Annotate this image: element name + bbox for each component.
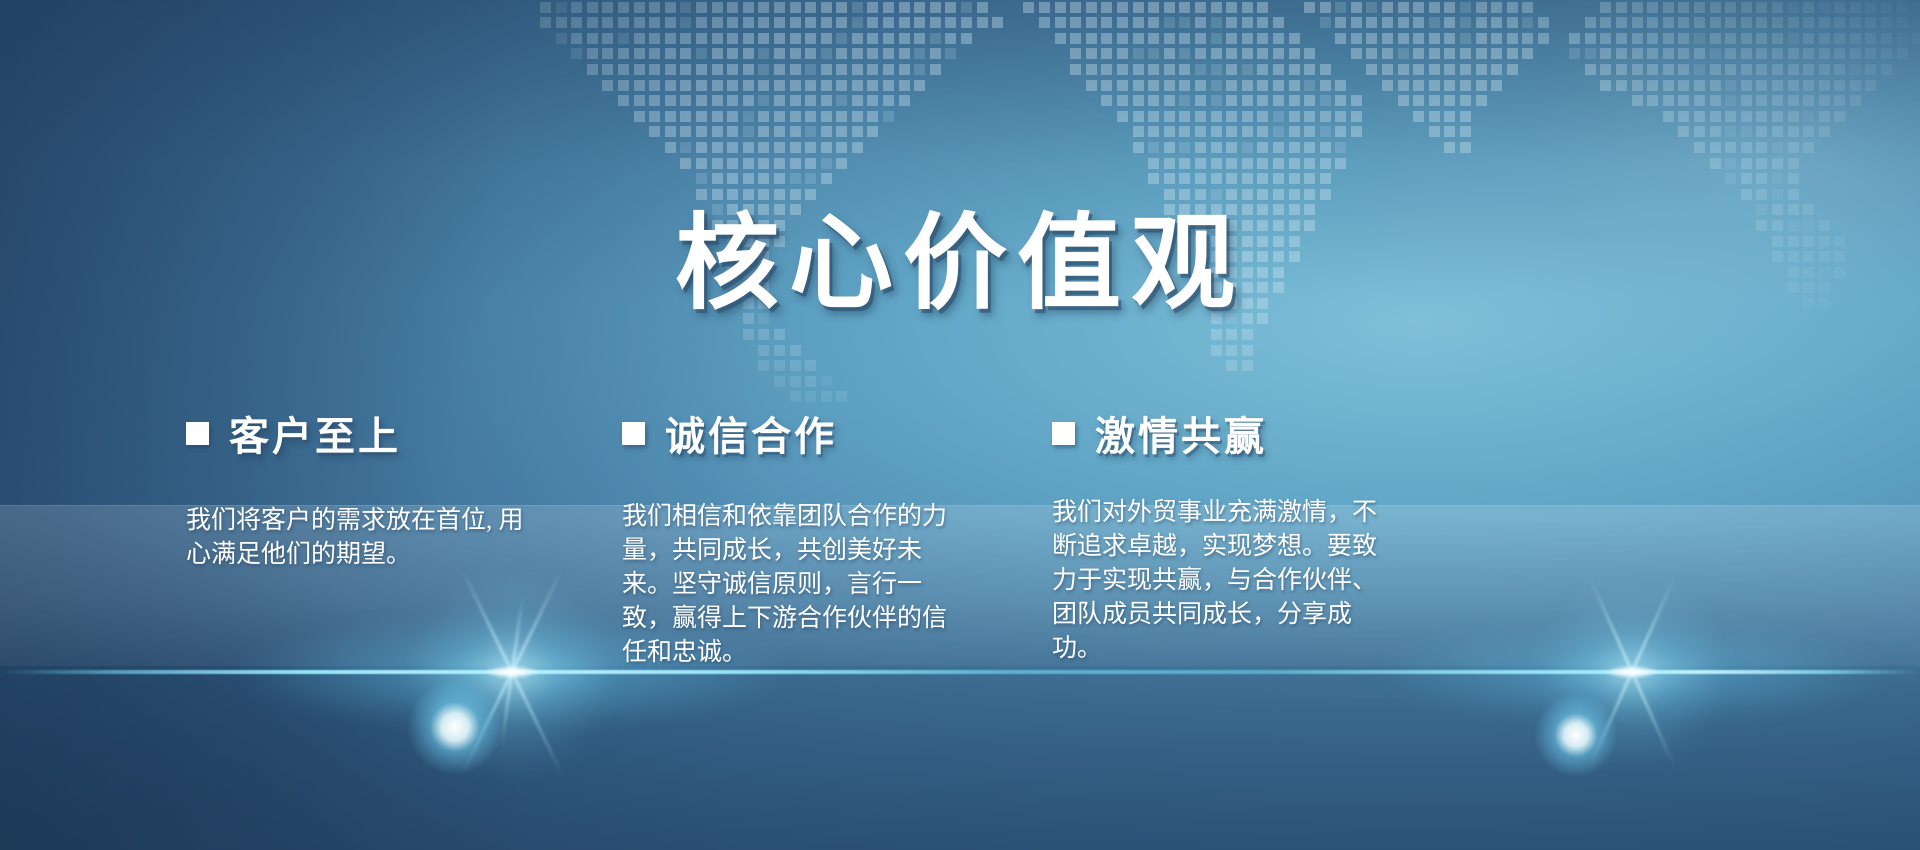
value-heading-row: 客户至上	[186, 404, 606, 462]
value-heading-label: 诚信合作	[665, 404, 837, 462]
value-body-text: 我们将客户的需求放在首位, 用心满足他们的期望。	[186, 504, 531, 572]
value-heading-label: 客户至上	[229, 404, 401, 462]
banner-canvas: 核心价值观 客户至上 我们将客户的需求放在首位, 用心满足他们的期望。 诚信合作…	[0, 0, 1920, 850]
value-column-customer-first: 客户至上 我们将客户的需求放在首位, 用心满足他们的期望。	[186, 404, 606, 572]
values-list: 客户至上 我们将客户的需求放在首位, 用心满足他们的期望。 诚信合作 我们相信和…	[0, 0, 1920, 850]
value-heading-row: 激情共赢	[1052, 404, 1472, 462]
value-column-passion-winwin: 激情共赢 我们对外贸事业充满激情，不断追求卓越，实现梦想。要致力于实现共赢，与合…	[1052, 404, 1472, 666]
square-bullet-icon	[1052, 422, 1075, 445]
value-body-text: 我们对外贸事业充满激情，不断追求卓越，实现梦想。要致力于实现共赢，与合作伙伴、团…	[1052, 496, 1382, 666]
value-heading-label: 激情共赢	[1095, 404, 1267, 462]
value-column-integrity-cooperation: 诚信合作 我们相信和依靠团队合作的力量，共同成长，共创美好未来。坚守诚信原则，言…	[622, 404, 1042, 670]
square-bullet-icon	[622, 422, 645, 445]
value-body-text: 我们相信和依靠团队合作的力量，共同成长，共创美好未来。坚守诚信原则，言行一致，赢…	[622, 500, 952, 670]
value-heading-row: 诚信合作	[622, 404, 1042, 462]
square-bullet-icon	[186, 422, 209, 445]
